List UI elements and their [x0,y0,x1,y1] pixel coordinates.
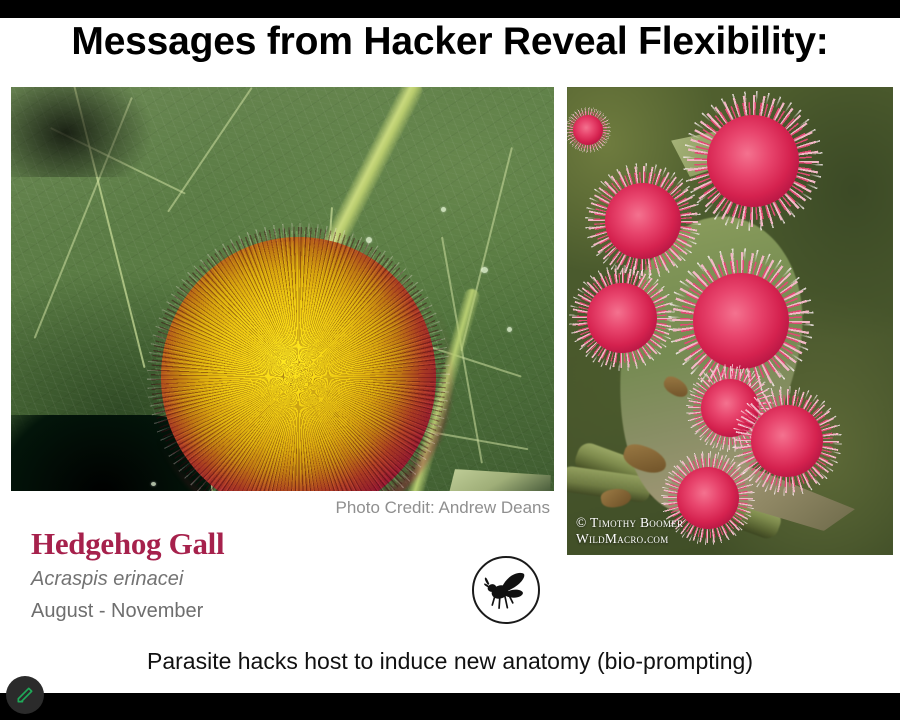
dew-drop [151,482,156,486]
gall-wasp-badge [472,556,540,624]
photo-watermark: © Timothy Boomer WildMacro.com [576,515,683,546]
slide-title: Messages from Hacker Reveal Flexibility: [0,20,900,64]
watermark-line-1: © Timothy Boomer [576,515,683,531]
pink-gall [707,115,799,207]
bottom-letterbox-bar [0,693,900,720]
pink-gall-photo: © Timothy Boomer WildMacro.com [567,87,893,555]
hedgehog-gall-photo [11,87,554,491]
gall-common-name: Hedgehog Gall [31,526,224,562]
leaf-shadow [11,87,151,177]
pink-gall [693,273,789,369]
pink-gall [751,405,823,477]
gall-scientific-name: Acraspis erinacei [31,568,183,591]
slide-footer-note: Parasite hacks host to induce new anatom… [0,648,900,675]
photo-credit: Photo Credit: Andrew Deans [250,498,550,518]
slide-root: Messages from Hacker Reveal Flexibility: [0,0,900,720]
watermark-line-2: WildMacro.com [576,531,683,547]
edit-button[interactable] [6,676,44,714]
dew-drop [507,327,512,332]
dew-drop [441,207,446,212]
gall-season: August - November [31,600,203,623]
dew-drop [481,267,488,273]
pink-gall [587,283,657,353]
hedgehog-gall [161,237,436,491]
pink-gall [605,183,681,259]
pencil-icon [15,685,35,705]
pink-gall [677,467,739,529]
top-letterbox-bar [0,0,900,18]
pink-gall [573,115,603,145]
gall-wasp-icon [482,568,530,612]
